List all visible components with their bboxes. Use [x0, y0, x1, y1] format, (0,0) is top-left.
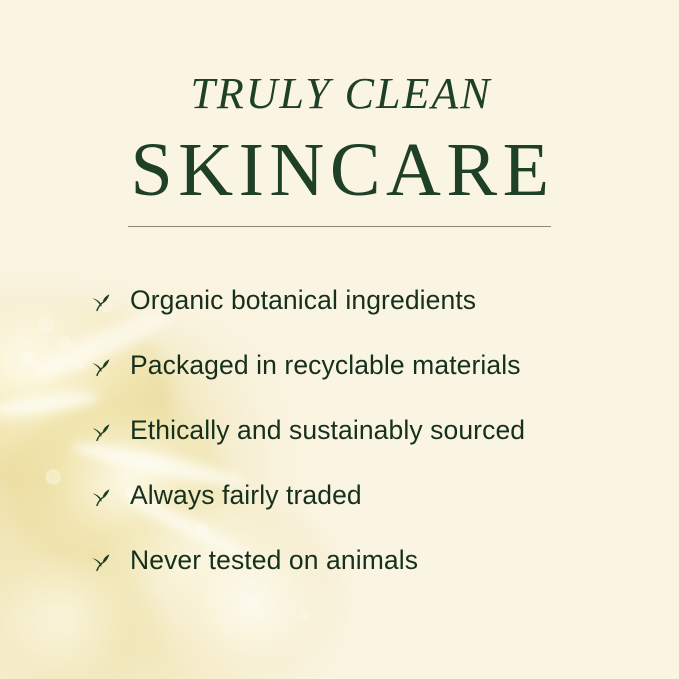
list-item-label: Always fairly traded — [130, 480, 362, 511]
list-item-label: Never tested on animals — [130, 545, 418, 576]
list-item: Always fairly traded — [86, 463, 639, 528]
sprout-leaf-icon — [86, 286, 116, 316]
sprout-leaf-icon — [86, 546, 116, 576]
headline-kicker: TRULY CLEAN — [0, 72, 679, 116]
list-item-label: Organic botanical ingredients — [130, 285, 476, 316]
headline-main: SKINCARE — [0, 116, 679, 208]
title-divider — [128, 226, 551, 227]
list-item: Packaged in recyclable materials — [86, 333, 639, 398]
page-title: TRULY CLEAN SKINCARE — [0, 72, 679, 208]
poster-content: TRULY CLEAN SKINCARE Organic botanical i… — [0, 0, 679, 679]
list-item-label: Ethically and sustainably sourced — [130, 415, 525, 446]
sprout-leaf-icon — [86, 481, 116, 511]
list-item: Organic botanical ingredients — [86, 268, 639, 333]
list-item: Never tested on animals — [86, 528, 639, 593]
benefits-list: Organic botanical ingredients Packaged i… — [86, 268, 639, 593]
sprout-leaf-icon — [86, 416, 116, 446]
sprout-leaf-icon — [86, 351, 116, 381]
list-item-label: Packaged in recyclable materials — [130, 350, 521, 381]
skincare-promo-poster: TRULY CLEAN SKINCARE Organic botanical i… — [0, 0, 679, 679]
list-item: Ethically and sustainably sourced — [86, 398, 639, 463]
